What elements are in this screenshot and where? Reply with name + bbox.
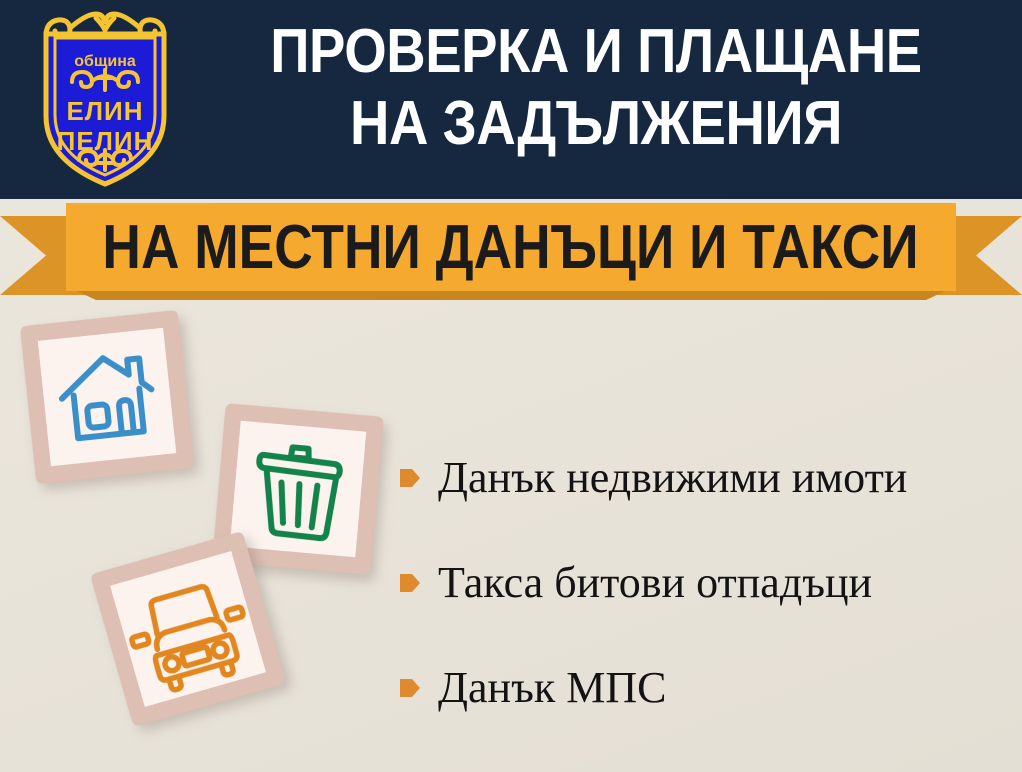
ribbon-main-panel: НА МЕСТНИ ДАНЪЦИ И ТАКСИ (66, 203, 956, 291)
ribbon-subtitle: НА МЕСТНИ ДАНЪЦИ И ТАКСИ (103, 212, 919, 283)
list-item[interactable]: Данък МПС (400, 635, 1010, 740)
list-item[interactable]: Данък недвижими имоти (400, 425, 1010, 530)
arrow-right-bullet-icon (400, 676, 420, 700)
list-item[interactable]: Такса битови отпадъци (400, 530, 1010, 635)
ribbon-banner: НА МЕСТНИ ДАНЪЦИ И ТАКСИ (0, 203, 1022, 295)
poster-canvas: ПРОВЕРКА И ПЛАЩАНЕ НА ЗАДЪЛЖЕНИЯ община (0, 0, 1022, 772)
tax-type-list: Данък недвижими имоти Такса битови отпад… (400, 425, 1010, 740)
municipality-crest-logo: община ЕЛИН ПЕЛИН (24, 8, 186, 190)
list-item-label: Такса битови отпадъци (438, 561, 872, 605)
arrow-right-bullet-icon (400, 571, 420, 595)
list-item-label: Данък недвижими имоти (438, 456, 907, 500)
crest-municipality-word: община (74, 53, 136, 70)
page-title: ПРОВЕРКА И ПЛАЩАНЕ НА ЗАДЪЛЖЕНИЯ (234, 16, 957, 160)
stamp-collage (0, 296, 420, 772)
list-item-label: Данък МПС (438, 666, 666, 710)
crest-name-line-1: ЕЛИН (66, 96, 143, 126)
arrow-right-bullet-icon (400, 466, 420, 490)
stamp-property-tax (5, 295, 209, 499)
